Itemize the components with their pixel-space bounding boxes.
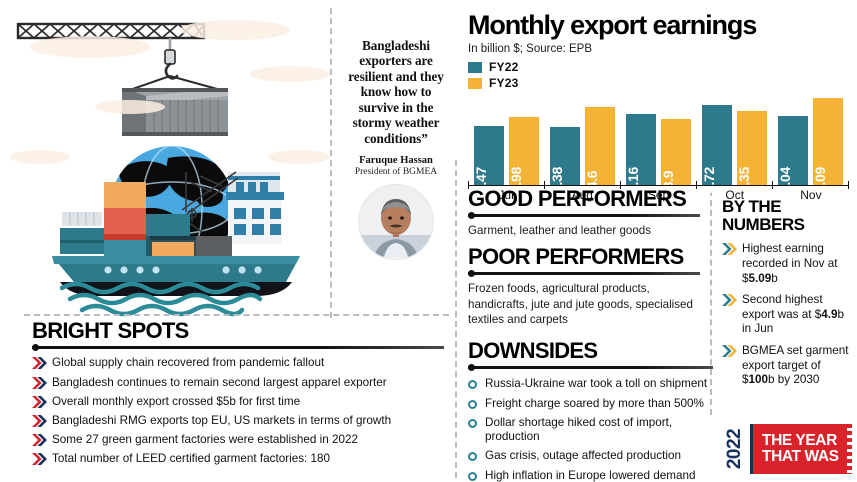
list-item: Overall monthly export crossed $5b for f…	[32, 395, 444, 410]
legend-label-fy23: FY23	[489, 76, 518, 90]
list-item-label: Bangladeshi RMG exports top EU, US marke…	[52, 414, 444, 429]
by-the-numbers-list: Highest earning recorded in Nov at $5.09…	[722, 242, 850, 388]
quote-block: Bangladeshi exporters are resilient and …	[340, 38, 452, 260]
poor-performers-heading: POOR PERFORMERS	[468, 246, 700, 268]
item-post: b	[771, 272, 778, 285]
axis-tick	[848, 181, 849, 189]
item-post: b by 2030	[768, 373, 819, 386]
double-chevron-icon	[32, 434, 47, 446]
list-item-label: Dollar shortage hiked cost of import, pr…	[485, 416, 713, 445]
bright-spots-section: BRIGHT SPOTS Global supply chain recover…	[32, 320, 444, 471]
item-value: 5.09	[749, 272, 772, 285]
chart-legend: FY22 FY23	[468, 60, 849, 90]
bar-fy22-jul: 3.47	[474, 126, 504, 185]
poor-performers-text: Frozen foods, agricultural products, han…	[468, 281, 700, 327]
divider-middle-vertical	[455, 160, 457, 478]
monthly-export-earnings-chart: Monthly export earnings In billion $; So…	[468, 12, 849, 202]
list-item-label: High inflation in Europe lowered demand	[485, 469, 713, 482]
list-item-label: Bangladesh continues to remain second la…	[52, 376, 444, 391]
chart-bar-groups: 3.473.983.384.64.163.94.724.354.045.09	[468, 93, 849, 185]
bar-value-label: 4.35	[736, 167, 752, 193]
bar-fy23-nov: 5.09	[813, 98, 843, 185]
divider-bottom-left-horizontal	[24, 314, 449, 316]
bright-spots-heading: BRIGHT SPOTS	[32, 320, 444, 342]
list-item-label: Total number of LEED certified garment f…	[52, 452, 444, 467]
bar-fy22-oct: 4.72	[702, 105, 732, 185]
list-item-label: BGMEA set garment export target of $100b…	[742, 344, 850, 388]
list-item: Highest earning recorded in Nov at $5.09…	[722, 242, 850, 286]
list-item: Bangladesh continues to remain second la…	[32, 376, 444, 391]
heading-rule	[468, 270, 700, 277]
bright-spots-list: Global supply chain recovered from pande…	[32, 356, 444, 466]
logo-text-block: THE YEAR THAT WAS	[753, 424, 852, 474]
double-chevron-icon	[722, 243, 737, 255]
circle-bullet-icon	[468, 472, 477, 481]
legend-item-fy22: FY22	[468, 60, 849, 74]
list-item-label: Second highest export was at $4.9b in Ju…	[742, 293, 850, 337]
double-chevron-icon	[32, 415, 47, 427]
logo-year-block: 2022	[720, 424, 753, 474]
list-item-label: Freight charge soared by more than 500%	[485, 397, 713, 412]
portrait-photo	[360, 185, 432, 257]
avatar	[358, 184, 434, 260]
bar-group-aug: 3.384.6	[544, 93, 620, 185]
legend-swatch-fy23	[468, 78, 482, 89]
legend-item-fy23: FY23	[468, 76, 849, 90]
quote-author-role: President of BGMEA	[340, 167, 452, 177]
list-item: Total number of LEED certified garment f…	[32, 452, 444, 467]
poor-performers-section: POOR PERFORMERS Frozen foods, agricultur…	[468, 246, 700, 327]
item-pre: Second highest export was at $	[742, 293, 823, 321]
heading-rule	[32, 344, 444, 351]
list-item-label: Some 27 green garment factories were est…	[52, 433, 444, 448]
ship-superstructure-icon	[226, 172, 284, 244]
list-item: Gas crisis, outage affected production	[468, 449, 713, 464]
axis-tick	[772, 181, 773, 189]
item-value: 100	[749, 373, 769, 386]
bar-fy22-nov: 4.04	[778, 116, 808, 185]
chart-title: Monthly export earnings	[468, 12, 849, 39]
list-item: Freight charge soared by more than 500%	[468, 397, 713, 412]
bar-fy22-sep: 4.16	[626, 114, 656, 185]
bar-value-label: 4.72	[701, 167, 717, 193]
list-item-label: Global supply chain recovered from pande…	[52, 356, 444, 371]
good-performers-text: Garment, leather and leather goods	[468, 223, 700, 238]
bar-group-jul: 3.473.98	[468, 93, 544, 185]
chart-plot-area: 3.473.983.384.64.163.94.724.354.045.09	[468, 93, 849, 185]
bar-group-nov: 4.045.09	[773, 93, 849, 185]
legend-label-fy22: FY22	[489, 60, 518, 74]
logo-line2: THAT WAS	[762, 449, 852, 465]
chart-subtitle: In billion $; Source: EPB	[468, 43, 849, 55]
circle-bullet-icon	[468, 380, 477, 389]
bar-fy22-aug: 3.38	[550, 127, 580, 185]
bar-fy23-aug: 4.6	[585, 107, 615, 185]
infographic-page: Bangladeshi exporters are resilient and …	[0, 0, 857, 482]
item-value: 4.9	[821, 308, 837, 321]
list-item-label: Overall monthly export crossed $5b for f…	[52, 395, 444, 410]
bar-fy23-sep: 3.9	[661, 119, 691, 185]
logo-notch	[847, 424, 852, 474]
heading-rule	[468, 364, 713, 371]
list-item: High inflation in Europe lowered demand	[468, 469, 713, 482]
circle-bullet-icon	[468, 419, 477, 428]
list-item: Bangladeshi RMG exports top EU, US marke…	[32, 414, 444, 429]
bar-fy23-jul: 3.98	[509, 117, 539, 185]
double-chevron-icon	[32, 396, 47, 408]
list-item: BGMEA set garment export target of $100b…	[722, 344, 850, 388]
list-item-label: Highest earning recorded in Nov at $5.09…	[742, 242, 850, 286]
divider-left-vertical	[330, 8, 332, 318]
list-item: Russia-Ukraine war took a toll on shipme…	[468, 377, 713, 392]
downsides-section: DOWNSIDES Russia-Ukraine war took a toll…	[468, 340, 713, 482]
logo-line1: THE YEAR	[762, 433, 852, 449]
bar-value-label: 4.04	[777, 167, 793, 193]
list-item-label: Gas crisis, outage affected production	[485, 449, 713, 464]
good-performers-heading: GOOD PERFORMERS	[468, 188, 700, 210]
double-chevron-icon	[32, 453, 47, 465]
quote-text: Bangladeshi exporters are resilient and …	[340, 38, 452, 146]
quote-author: Faruque Hassan	[340, 155, 452, 166]
downsides-list: Russia-Ukraine war took a toll on shipme…	[468, 377, 713, 482]
bar-value-label: 5.09	[812, 167, 828, 193]
by-the-numbers-heading-line2: NUMBERS	[722, 216, 850, 234]
double-chevron-icon	[32, 377, 47, 389]
by-the-numbers-section: BY THE NUMBERS Highest earning recorded …	[722, 198, 850, 395]
circle-bullet-icon	[468, 452, 477, 461]
list-item: Some 27 green garment factories were est…	[32, 433, 444, 448]
list-item: Dollar shortage hiked cost of import, pr…	[468, 416, 713, 445]
double-chevron-icon	[722, 294, 737, 306]
downsides-heading: DOWNSIDES	[468, 340, 713, 362]
logo-year: 2022	[724, 429, 746, 469]
list-item-label: Russia-Ukraine war took a toll on shipme…	[485, 377, 713, 392]
year-that-was-logo: 2022 THE YEAR THAT WAS	[720, 424, 852, 474]
list-item: Global supply chain recovered from pande…	[32, 356, 444, 371]
bar-group-sep: 4.163.9	[620, 93, 696, 185]
double-chevron-icon	[722, 345, 737, 357]
by-the-numbers-heading-line1: BY THE	[722, 198, 850, 216]
list-item: Second highest export was at $4.9b in Ju…	[722, 293, 850, 337]
good-performers-section: GOOD PERFORMERS Garment, leather and lea…	[468, 188, 700, 239]
cargo-ship-globe-crane-illustration	[0, 0, 340, 318]
heading-rule	[468, 212, 700, 219]
double-chevron-icon	[32, 357, 47, 369]
legend-swatch-fy22	[468, 62, 482, 73]
circle-bullet-icon	[468, 400, 477, 409]
bar-fy23-oct: 4.35	[737, 111, 767, 185]
bar-group-oct: 4.724.35	[697, 93, 773, 185]
